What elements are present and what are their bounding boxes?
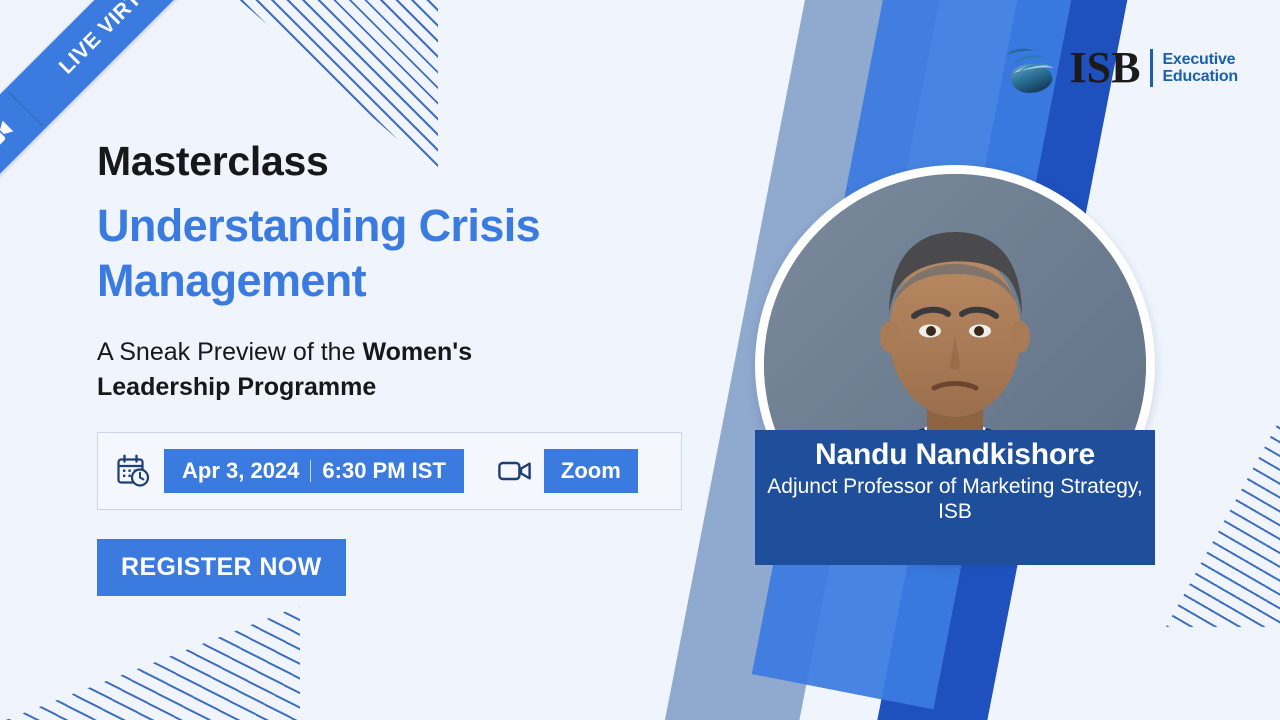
isb-birds-globe-icon — [1002, 42, 1064, 94]
platform-chip: Zoom — [544, 449, 638, 493]
logo-tagline-line1: Executive — [1162, 51, 1238, 68]
speaker-portrait-frame: Nandu Nandkishore Adjunct Professor of M… — [755, 165, 1155, 565]
hatch-pattern-bottom-left — [0, 606, 300, 720]
calendar-clock-icon — [116, 454, 150, 488]
speaker-nameplate: Nandu Nandkishore Adjunct Professor of M… — [755, 430, 1155, 565]
eyebrow-masterclass: Masterclass — [97, 139, 717, 183]
logo-tagline: Executive Education — [1162, 51, 1238, 86]
event-date: Apr 3, 2024 — [182, 458, 299, 484]
logo-tagline-line2: Education — [1162, 68, 1238, 85]
register-now-button[interactable]: REGISTER NOW — [97, 539, 346, 596]
isb-wordmark: ISB — [1070, 46, 1141, 90]
video-camera-icon — [0, 118, 16, 152]
event-time: 6:30 PM IST — [322, 458, 445, 484]
speaker-name: Nandu Nandkishore — [755, 438, 1155, 471]
speaker-title: Adjunct Professor of Marketing Strategy,… — [755, 475, 1155, 524]
video-camera-icon — [498, 459, 532, 483]
subtitle-plain: A Sneak Preview of the — [97, 338, 362, 366]
content-column: Masterclass Understanding Crisis Managem… — [97, 139, 717, 596]
event-info-bar: Apr 3, 2024 6:30 PM IST Zoom — [97, 432, 682, 510]
hatch-pattern-right — [1166, 412, 1280, 627]
date-time-chip: Apr 3, 2024 6:30 PM IST — [164, 449, 464, 493]
ribbon-label: LIVE VIRTUAL — [55, 0, 179, 79]
isb-logo: ISB Executive Education — [1002, 42, 1239, 94]
logo-divider — [1150, 49, 1153, 87]
chip-divider — [310, 460, 311, 482]
ribbon-divider — [8, 91, 43, 126]
subtitle: A Sneak Preview of the Women's Leadershi… — [97, 335, 597, 404]
promo-banner: LIVE VIRTUAL Masterclass Understanding C… — [0, 0, 1280, 720]
page-title: Understanding Crisis Management — [97, 199, 657, 309]
